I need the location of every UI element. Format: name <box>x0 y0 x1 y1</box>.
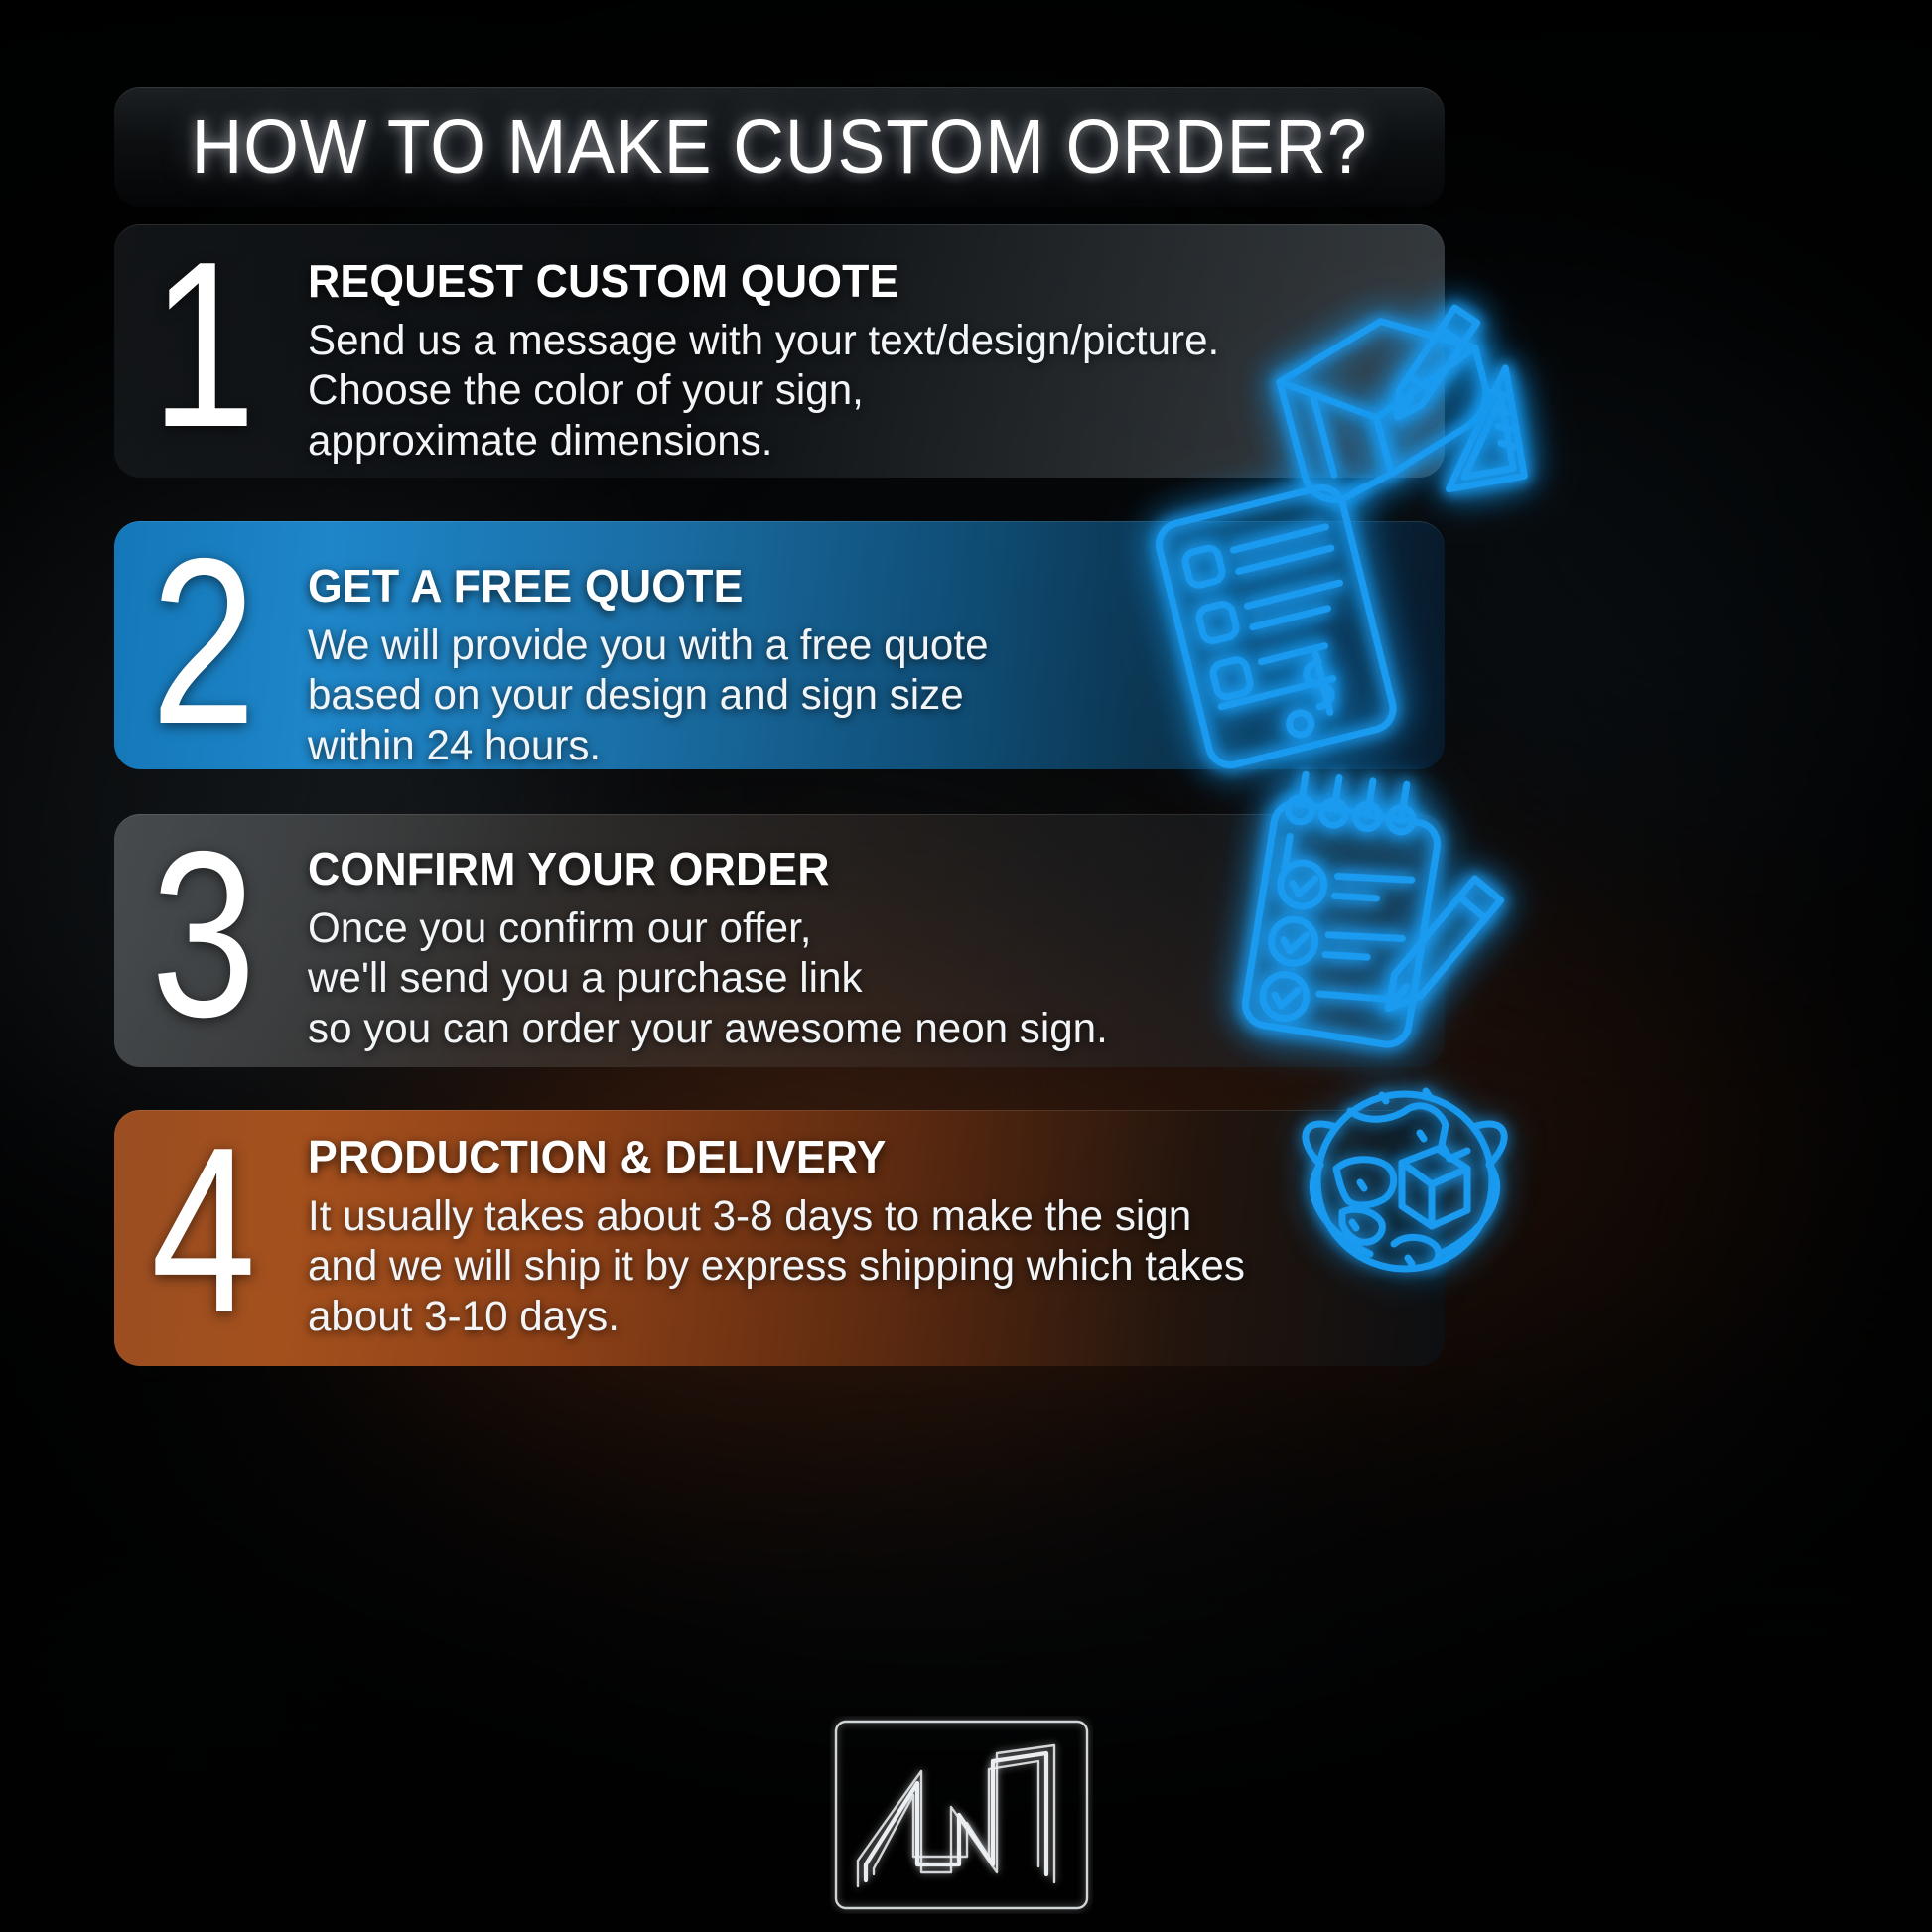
step-1-body: REQUEST CUSTOM QUOTE Send us a message w… <box>308 254 1415 466</box>
step-card-1: 1 REQUEST CUSTOM QUOTE Send us a message… <box>114 224 1445 478</box>
step-2-line-2: based on your design and sign size <box>308 670 1393 720</box>
step-3-body: CONFIRM YOUR ORDER Once you confirm our … <box>308 842 1415 1053</box>
step-number-1: 1 <box>151 218 256 472</box>
step-card-3: 3 CONFIRM YOUR ORDER Once you confirm ou… <box>114 814 1445 1067</box>
step-number-2: 2 <box>151 515 256 768</box>
infographic-page: HOW TO MAKE CUSTOM ORDER? 1 REQUEST CUST… <box>0 0 1932 1932</box>
step-card-4: 4 PRODUCTION & DELIVERY It usually takes… <box>114 1110 1445 1366</box>
step-4-body: PRODUCTION & DELIVERY It usually takes a… <box>308 1130 1415 1341</box>
step-card-2: 2 GET A FREE QUOTE We will provide you w… <box>114 521 1445 769</box>
step-2-line-3: within 24 hours. <box>308 721 1393 770</box>
page-title: HOW TO MAKE CUSTOM ORDER? <box>191 103 1367 192</box>
step-2-body: GET A FREE QUOTE We will provide you wit… <box>308 559 1415 770</box>
step-1-line-2: Choose the color of your sign, <box>308 365 1393 415</box>
step-4-line-3: about 3-10 days. <box>308 1292 1393 1341</box>
step-number-4: 4 <box>151 1104 256 1357</box>
page-title-card: HOW TO MAKE CUSTOM ORDER? <box>114 87 1445 207</box>
step-4-line-1: It usually takes about 3-8 days to make … <box>308 1191 1393 1241</box>
step-2-line-1: We will provide you with a free quote <box>308 621 1393 670</box>
step-4-heading: PRODUCTION & DELIVERY <box>308 1130 1382 1183</box>
step-3-heading: CONFIRM YOUR ORDER <box>308 842 1382 896</box>
ln-neon-monogram-logo <box>830 1716 1093 1914</box>
step-1-heading: REQUEST CUSTOM QUOTE <box>308 254 1382 308</box>
step-3-line-3: so you can order your awesome neon sign. <box>308 1004 1393 1053</box>
step-2-heading: GET A FREE QUOTE <box>308 559 1382 613</box>
step-3-line-1: Once you confirm our offer, <box>308 903 1393 953</box>
step-number-3: 3 <box>151 808 256 1061</box>
step-1-line-1: Send us a message with your text/design/… <box>308 316 1393 365</box>
step-3-line-2: we'll send you a purchase link <box>308 953 1393 1003</box>
step-1-line-3: approximate dimensions. <box>308 416 1393 466</box>
step-4-line-2: and we will ship it by express shipping … <box>308 1241 1393 1291</box>
